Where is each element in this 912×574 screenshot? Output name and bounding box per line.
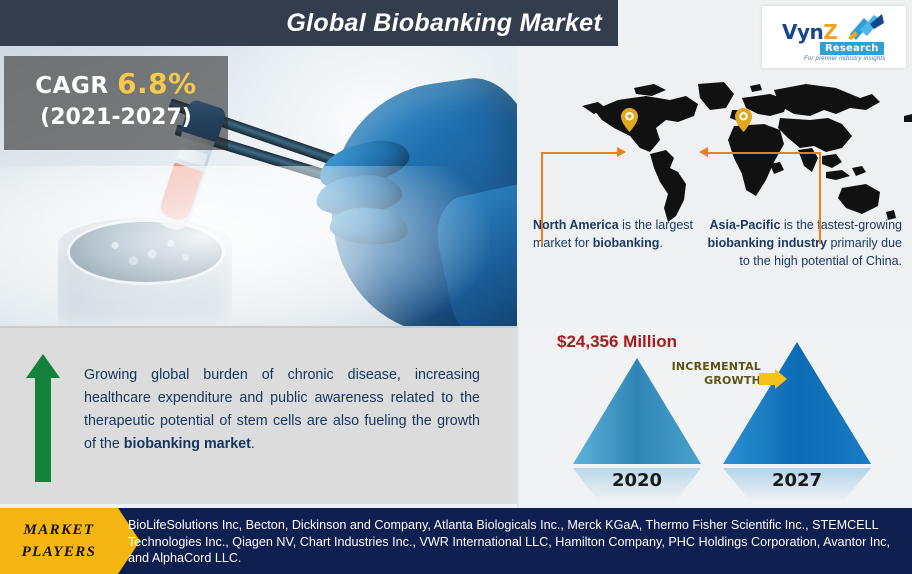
map-arrow-north-america bbox=[617, 147, 626, 157]
cagr-headline: CAGR 6.8% bbox=[4, 67, 228, 100]
logo-tagline: For premier industry insights bbox=[804, 56, 886, 62]
market-players-band: MARKET PLAYERS BioLifeSolutions Inc, Bec… bbox=[0, 508, 912, 574]
growth-chart-panel: $24,356 Million bbox=[519, 328, 912, 504]
regional-map-panel: North America is the largest market for … bbox=[519, 40, 912, 326]
driver-text-end: . bbox=[251, 436, 255, 452]
logo-wordmark: VynZ bbox=[782, 20, 837, 44]
rocket-swoosh-icon bbox=[848, 14, 884, 40]
market-driver-panel: Growing global burden of chronic disease… bbox=[0, 328, 517, 504]
chart-category-2027: 2027 bbox=[717, 470, 877, 491]
map-note-na-end: . bbox=[659, 236, 662, 250]
up-arrow-icon bbox=[26, 354, 60, 482]
chart-value-label: $24,356 Million bbox=[557, 332, 677, 352]
right-arrow-icon bbox=[759, 369, 787, 389]
logo-wordmark-z: Z bbox=[823, 20, 837, 44]
panel-divider-vertical bbox=[517, 326, 519, 508]
map-connector-north-america bbox=[541, 152, 623, 244]
market-players-list: BioLifeSolutions Inc, Becton, Dickinson … bbox=[128, 517, 904, 567]
market-players-tag-line2: PLAYERS bbox=[0, 544, 118, 561]
nitrogen-vapor-haze bbox=[0, 166, 490, 326]
logo-subtitle: Research bbox=[820, 42, 884, 55]
market-driver-text: Growing global burden of chronic disease… bbox=[84, 364, 480, 456]
logo-wordmark-vyn: Vyn bbox=[782, 20, 823, 44]
map-pin-icon bbox=[621, 108, 638, 132]
incremental-growth-label: INCREMENTAL GROWTH bbox=[631, 360, 761, 388]
logo-card[interactable]: VynZ Research For premier industry insig… bbox=[762, 6, 906, 68]
map-arrow-asia-pacific bbox=[699, 147, 708, 157]
cagr-label: CAGR bbox=[35, 73, 108, 99]
header-bar: Global Biobanking Market bbox=[0, 0, 618, 46]
cagr-badge: CAGR 6.8% (2021-2027) bbox=[4, 56, 228, 150]
logo-inner: VynZ Research For premier industry insig… bbox=[762, 6, 906, 68]
market-players-tag: MARKET PLAYERS bbox=[0, 508, 118, 574]
page-title: Global Biobanking Market bbox=[0, 0, 618, 46]
chart-category-2020: 2020 bbox=[567, 470, 707, 491]
infographic-root: Global Biobanking Market VynZ Research F… bbox=[0, 0, 912, 574]
map-pin-icon bbox=[735, 108, 752, 132]
market-players-tag-line1: MARKET bbox=[0, 522, 118, 539]
driver-text-bold: biobanking market bbox=[124, 436, 251, 452]
panel-divider-horizontal bbox=[0, 326, 517, 328]
cagr-value: 6.8% bbox=[117, 67, 197, 100]
map-connector-asia-pacific bbox=[706, 152, 821, 244]
cagr-period: (2021-2027) bbox=[4, 105, 228, 130]
